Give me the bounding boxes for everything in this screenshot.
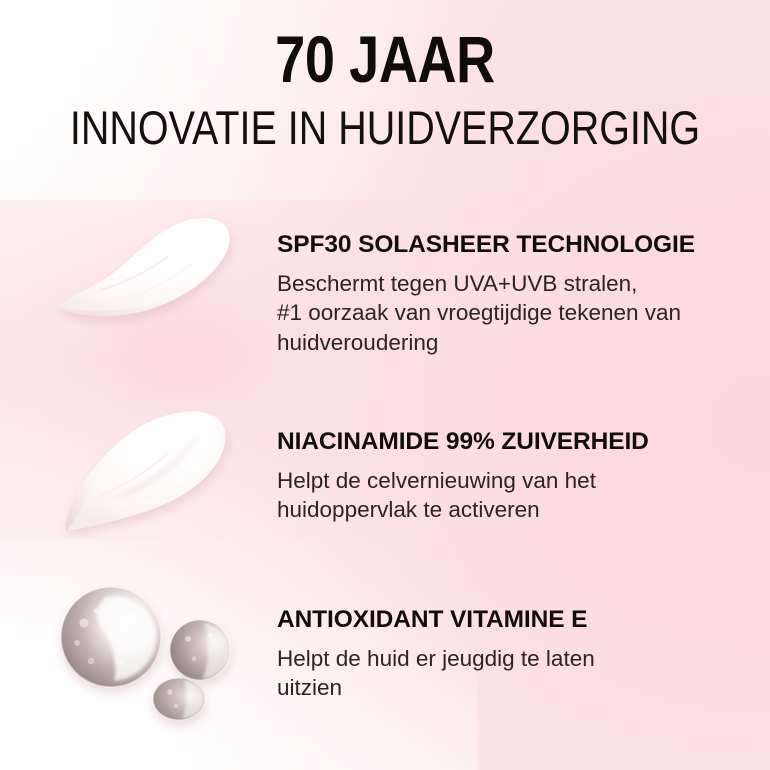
cream-swatch-comma-icon [48,212,248,332]
serum-droplets-icon [44,575,254,745]
feature-visual-vitamine-e [0,565,277,715]
feature-row-vitamine-e: ANTIOXIDANT VITAMINE E Helpt de huid er … [0,565,770,715]
feature-visual-spf30 [0,210,277,360]
feature-text-niacinamide: NIACINAMIDE 99% ZUIVERHEID Helpt de celv… [277,405,770,525]
feature-heading: ANTIOXIDANT VITAMINE E [277,607,754,634]
cream-swatch-hook-icon [48,403,248,543]
feature-text-spf30: SPF30 SOLASHEER TECHNOLOGIE Beschermt te… [277,210,770,357]
feature-heading: SPF30 SOLASHEER TECHNOLOGIE [277,232,754,259]
page-subtitle: INNOVATIE IN HUIDVERZORGING [62,104,709,151]
feature-body: Helpt de huid er jeugdig te laten uitzie… [277,644,754,703]
product-infographic: 70 JAAR INNOVATIE IN HUIDVERZORGING [0,0,770,770]
feature-body: Beschermt tegen UVA+UVB stralen, #1 oorz… [277,269,754,357]
feature-text-vitamine-e: ANTIOXIDANT VITAMINE E Helpt de huid er … [277,565,770,703]
feature-heading: NIACINAMIDE 99% ZUIVERHEID [277,429,754,456]
feature-row-spf30: SPF30 SOLASHEER TECHNOLOGIE Beschermt te… [0,210,770,360]
poster-header: 70 JAAR INNOVATIE IN HUIDVERZORGING [0,26,770,151]
feature-row-niacinamide: NIACINAMIDE 99% ZUIVERHEID Helpt de celv… [0,405,770,555]
page-title: 70 JAAR [69,26,700,92]
feature-visual-niacinamide [0,405,277,555]
feature-body: Helpt de celvernieuwing van het huidoppe… [277,466,754,525]
